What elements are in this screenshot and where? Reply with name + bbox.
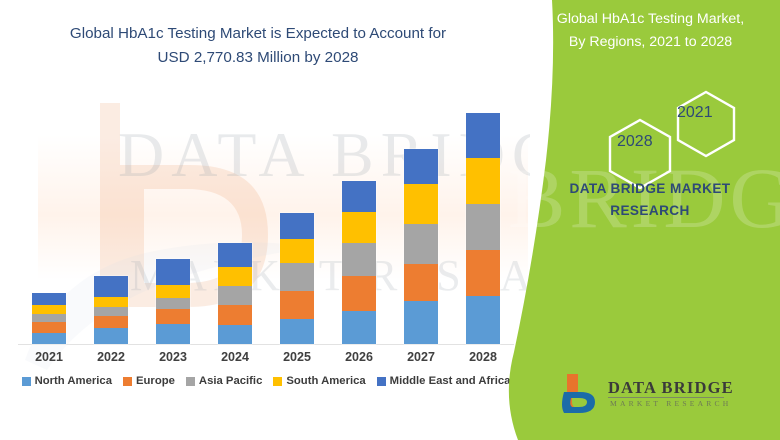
bar-stack-2023[interactable] — [156, 259, 190, 344]
x-tick-2026: 2026 — [328, 350, 390, 370]
bar-segment-north_america-2025[interactable] — [280, 319, 314, 344]
bar-segment-north_america-2024[interactable] — [218, 325, 252, 344]
x-tick-2025: 2025 — [266, 350, 328, 370]
bar-group — [266, 213, 328, 344]
bar-stack-2028[interactable] — [466, 113, 500, 344]
page-title: Global HbA1c Testing Market is Expected … — [28, 22, 488, 69]
legend-item-south_america[interactable]: South America — [273, 375, 365, 387]
logo-name: DATA BRIDGE — [608, 378, 734, 398]
bar-group — [390, 149, 452, 344]
bar-segment-middle_east_and_africa-2026[interactable] — [342, 181, 376, 212]
x-tick-2027: 2027 — [390, 350, 452, 370]
branding-company-line2: RESEARCH — [525, 200, 775, 222]
plot-area — [18, 100, 514, 345]
bar-segment-south_america-2028[interactable] — [466, 158, 500, 204]
hexagon-2021-shape — [678, 92, 734, 156]
bar-segment-asia_pacific-2021[interactable] — [32, 314, 66, 322]
bar-segment-asia_pacific-2028[interactable] — [466, 204, 500, 250]
bar-segment-south_america-2021[interactable] — [32, 305, 66, 314]
bar-stack-2022[interactable] — [94, 276, 128, 344]
bar-segment-north_america-2022[interactable] — [94, 328, 128, 344]
branding-company-line1: DATA BRIDGE MARKET — [525, 178, 775, 200]
bar-group — [142, 259, 204, 344]
bar-segment-middle_east_and_africa-2024[interactable] — [218, 243, 252, 267]
bar-segment-europe-2028[interactable] — [466, 250, 500, 296]
bar-group — [80, 276, 142, 344]
bar-segment-north_america-2023[interactable] — [156, 324, 190, 344]
hexagon-label-2021: 2021 — [677, 104, 713, 122]
branding-title-line2: By Regions, 2021 to 2028 — [528, 31, 773, 54]
bar-segment-north_america-2026[interactable] — [342, 311, 376, 344]
branding-title: Global HbA1c Testing Market, By Regions,… — [528, 8, 773, 53]
bar-segment-europe-2027[interactable] — [404, 264, 438, 301]
bar-container — [18, 100, 514, 344]
axis-baseline — [18, 344, 514, 345]
page-title-line2: USD 2,770.83 Million by 2028 — [28, 46, 488, 70]
legend-item-middle_east_and_africa[interactable]: Middle East and Africa — [377, 375, 511, 387]
bar-segment-europe-2026[interactable] — [342, 276, 376, 311]
legend-label: Middle East and Africa — [390, 375, 511, 387]
bar-segment-south_america-2024[interactable] — [218, 267, 252, 286]
bar-segment-asia_pacific-2025[interactable] — [280, 263, 314, 291]
bar-segment-south_america-2023[interactable] — [156, 285, 190, 298]
bar-segment-europe-2025[interactable] — [280, 291, 314, 319]
bar-stack-2021[interactable] — [32, 293, 66, 344]
legend-swatch-icon-asia_pacific — [186, 377, 195, 386]
bar-segment-south_america-2025[interactable] — [280, 239, 314, 263]
bar-group — [18, 293, 80, 344]
branding-company-name: DATA BRIDGE MARKET RESEARCH — [525, 178, 775, 222]
bar-segment-middle_east_and_africa-2021[interactable] — [32, 293, 66, 305]
bar-segment-middle_east_and_africa-2023[interactable] — [156, 259, 190, 285]
bar-segment-europe-2022[interactable] — [94, 316, 128, 328]
infographic-canvas: DATA BRIDGE MARKET RESEARCH Global HbA1c… — [0, 0, 780, 440]
bar-group — [204, 243, 266, 344]
legend-item-north_america[interactable]: North America — [22, 375, 112, 387]
company-logo: DATA BRIDGE MARKET RESEARCH — [558, 372, 758, 418]
bar-segment-middle_east_and_africa-2025[interactable] — [280, 213, 314, 239]
bar-segment-europe-2024[interactable] — [218, 305, 252, 325]
legend-label: Europe — [136, 375, 175, 387]
x-tick-2024: 2024 — [204, 350, 266, 370]
bar-segment-south_america-2022[interactable] — [94, 297, 128, 307]
legend-item-asia_pacific[interactable]: Asia Pacific — [186, 375, 262, 387]
bar-segment-middle_east_and_africa-2027[interactable] — [404, 149, 438, 184]
bar-segment-asia_pacific-2023[interactable] — [156, 298, 190, 309]
x-tick-2023: 2023 — [142, 350, 204, 370]
bar-segment-north_america-2027[interactable] — [404, 301, 438, 344]
branding-title-line1: Global HbA1c Testing Market, — [528, 8, 773, 31]
bar-stack-2024[interactable] — [218, 243, 252, 344]
bar-stack-2027[interactable] — [404, 149, 438, 344]
x-axis-tick-labels: 20212022202320242025202620272028 — [18, 350, 514, 370]
bar-stack-2026[interactable] — [342, 181, 376, 344]
legend-swatch-icon-south_america — [273, 377, 282, 386]
chart-legend: North AmericaEuropeAsia PacificSouth Ame… — [18, 375, 514, 387]
logo-tagline: MARKET RESEARCH — [610, 399, 732, 408]
legend-label: North America — [35, 375, 112, 387]
x-tick-2022: 2022 — [80, 350, 142, 370]
logo-divider — [608, 397, 724, 398]
legend-label: South America — [286, 375, 365, 387]
x-tick-2021: 2021 — [18, 350, 80, 370]
bar-segment-europe-2021[interactable] — [32, 322, 66, 333]
bar-group — [328, 181, 390, 344]
bar-segment-asia_pacific-2024[interactable] — [218, 286, 252, 305]
chart-panel: DATA BRIDGE MARKET RESEARCH Global HbA1c… — [0, 0, 530, 440]
bar-segment-europe-2023[interactable] — [156, 309, 190, 324]
legend-swatch-icon-north_america — [22, 377, 31, 386]
bar-segment-asia_pacific-2026[interactable] — [342, 243, 376, 276]
bar-segment-asia_pacific-2022[interactable] — [94, 307, 128, 316]
bar-segment-south_america-2026[interactable] — [342, 212, 376, 243]
bar-segment-middle_east_and_africa-2022[interactable] — [94, 276, 128, 297]
bar-segment-north_america-2021[interactable] — [32, 333, 66, 344]
bar-segment-north_america-2028[interactable] — [466, 296, 500, 344]
legend-swatch-icon-middle_east_and_africa — [377, 377, 386, 386]
data-bridge-b-logo-icon — [558, 372, 602, 416]
legend-label: Asia Pacific — [199, 375, 262, 387]
page-title-line1: Global HbA1c Testing Market is Expected … — [28, 22, 488, 46]
bar-segment-south_america-2027[interactable] — [404, 184, 438, 224]
bar-segment-middle_east_and_africa-2028[interactable] — [466, 113, 500, 158]
legend-item-europe[interactable]: Europe — [123, 375, 175, 387]
bar-stack-2025[interactable] — [280, 213, 314, 344]
bar-segment-asia_pacific-2027[interactable] — [404, 224, 438, 264]
hexagon-label-2028: 2028 — [617, 133, 653, 151]
legend-swatch-icon-europe — [123, 377, 132, 386]
